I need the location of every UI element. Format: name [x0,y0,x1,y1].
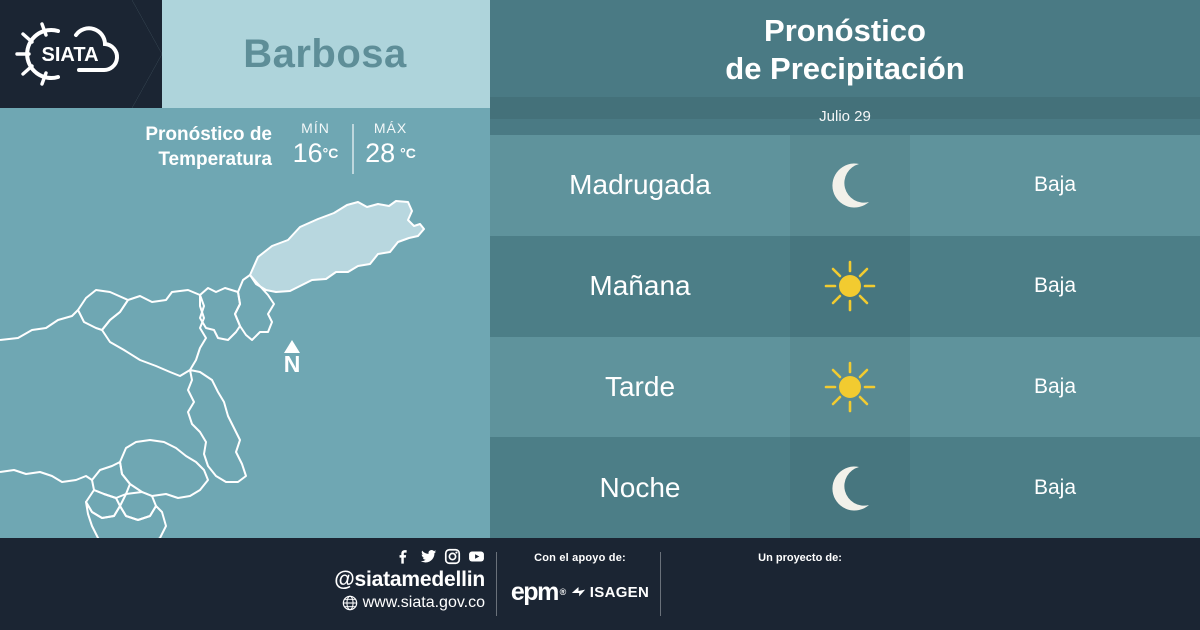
forecast-icon-cell [790,437,910,538]
forecast-level-cell: Baja [910,135,1200,236]
temperature-max-unit: °C [400,145,416,161]
temperature-min-label: MÍN [278,118,353,138]
forecast-period-cell: Tarde [490,337,790,438]
social-icons [310,548,485,565]
epm-registered-mark: ® [560,580,565,605]
map-boundary-west-fragments [0,310,78,340]
temperature-min-number: 16 [293,138,323,168]
isagen-logo: ISAGEN [570,584,649,601]
forecast-level-cell: Baja [910,437,1200,538]
forecast-rows: Madrugada Baja Mañana [490,135,1200,538]
forecast-level-label: Baja [1034,375,1076,399]
logo-chevron-shape [132,0,162,108]
forecast-period-label: Mañana [589,270,690,302]
temperature-min-value: 16°C [278,138,353,168]
globe-icon [342,595,358,611]
aburra-valley-map: N [0,180,490,538]
forecast-row: Madrugada Baja [490,135,1200,236]
map-svg [0,180,490,538]
precipitation-title: Pronóstico de Precipitación [490,12,1200,88]
forecast-row: Tarde [490,337,1200,438]
forecast-level-label: Baja [1034,173,1076,197]
logo-wordmark: SIATA [41,44,98,66]
map-municipality-corridor [188,370,246,482]
map-municipality-itagui [92,462,130,498]
temperature-max-label: MÁX [353,118,428,138]
moon-icon [823,158,877,212]
left-panel: SIATA Barbosa Pronóstico de Temperatura … [0,0,490,538]
temperature-max: MÁX 28°C [353,118,428,180]
forecast-period-cell: Madrugada [490,135,790,236]
forecast-period-label: Noche [600,472,681,504]
map-municipality-bello [102,290,206,376]
temperature-min: MÍN 16°C [278,118,353,180]
forecast-period-label: Tarde [605,371,675,403]
precipitation-panel: Pronóstico de Precipitación Julio 29 Mad… [490,0,1200,538]
temperature-title-line1: Pronóstico de [82,122,272,147]
youtube-icon[interactable] [468,548,485,565]
forecast-period-cell: Noche [490,437,790,538]
left-header: SIATA Barbosa [0,0,490,108]
social-block: @siatamedellin www.siata.gov.co [310,548,485,613]
temperature-max-number: 28 [365,138,395,168]
twitter-icon[interactable] [420,548,437,565]
forecast-row: Noche Baja [490,437,1200,538]
facebook-icon[interactable] [396,548,413,565]
temperature-min-unit: °C [323,145,339,161]
temperature-max-value: 28°C [353,138,428,168]
city-title: Barbosa [160,0,490,108]
footer: @siatamedellin www.siata.gov.co Con el a… [0,538,1200,630]
support-block: Con el apoyo de: epm® ISAGEN [500,552,660,605]
sun-cloud-icon: SIATA [12,14,124,94]
forecast-level-cell: Baja [910,337,1200,438]
weather-infographic: SIATA Barbosa Pronóstico de Temperatura … [0,0,1200,630]
map-municipality-copacabana [200,288,240,340]
map-municipality-west [78,290,128,330]
forecast-period-label: Madrugada [569,169,711,201]
forecast-level-label: Baja [1034,476,1076,500]
sun-icon [823,360,877,414]
footer-divider [496,552,497,616]
footer-divider-2 [660,552,661,616]
map-municipality-caldas [86,502,166,538]
forecast-icon-cell [790,135,910,236]
temperature-summary: Pronóstico de Temperatura MÍN 16°C MÁX 2… [0,108,490,186]
temperature-title: Pronóstico de Temperatura [82,122,272,172]
siata-logo-block: SIATA [0,0,132,108]
epm-logo: epm® [511,580,558,605]
isagen-mark-icon [570,585,587,601]
precipitation-title-line1: Pronóstico [490,12,1200,50]
precipitation-header: Pronóstico de Precipitación Julio 29 [490,0,1200,135]
forecast-level-label: Baja [1034,274,1076,298]
instagram-icon[interactable] [444,548,461,565]
forecast-icon-cell [790,337,910,438]
map-municipality-barbosa [250,201,424,292]
map-municipality-medellin [120,440,208,498]
support-logos: epm® ISAGEN [500,580,660,605]
north-indicator: N [275,340,309,376]
north-label: N [275,352,309,376]
forecast-row: Mañana [490,236,1200,337]
temperature-divider [352,124,354,174]
support-caption: Con el apoyo de: [500,552,660,564]
website-line[interactable]: www.siata.gov.co [310,592,485,613]
moon-icon [823,461,877,515]
website-url: www.siata.gov.co [363,592,485,613]
forecast-period-cell: Mañana [490,236,790,337]
forecast-level-cell: Baja [910,236,1200,337]
temperature-title-line2: Temperatura [82,147,272,172]
map-boundary-west-lower [0,470,92,482]
social-handle[interactable]: @siatamedellin [310,567,485,592]
project-caption-block: Un proyecto de: [700,552,900,564]
forecast-icon-cell [790,236,910,337]
sun-icon [823,259,877,313]
forecast-date: Julio 29 [490,108,1200,125]
project-caption: Un proyecto de: [700,552,900,564]
precipitation-title-line2: de Precipitación [490,50,1200,88]
